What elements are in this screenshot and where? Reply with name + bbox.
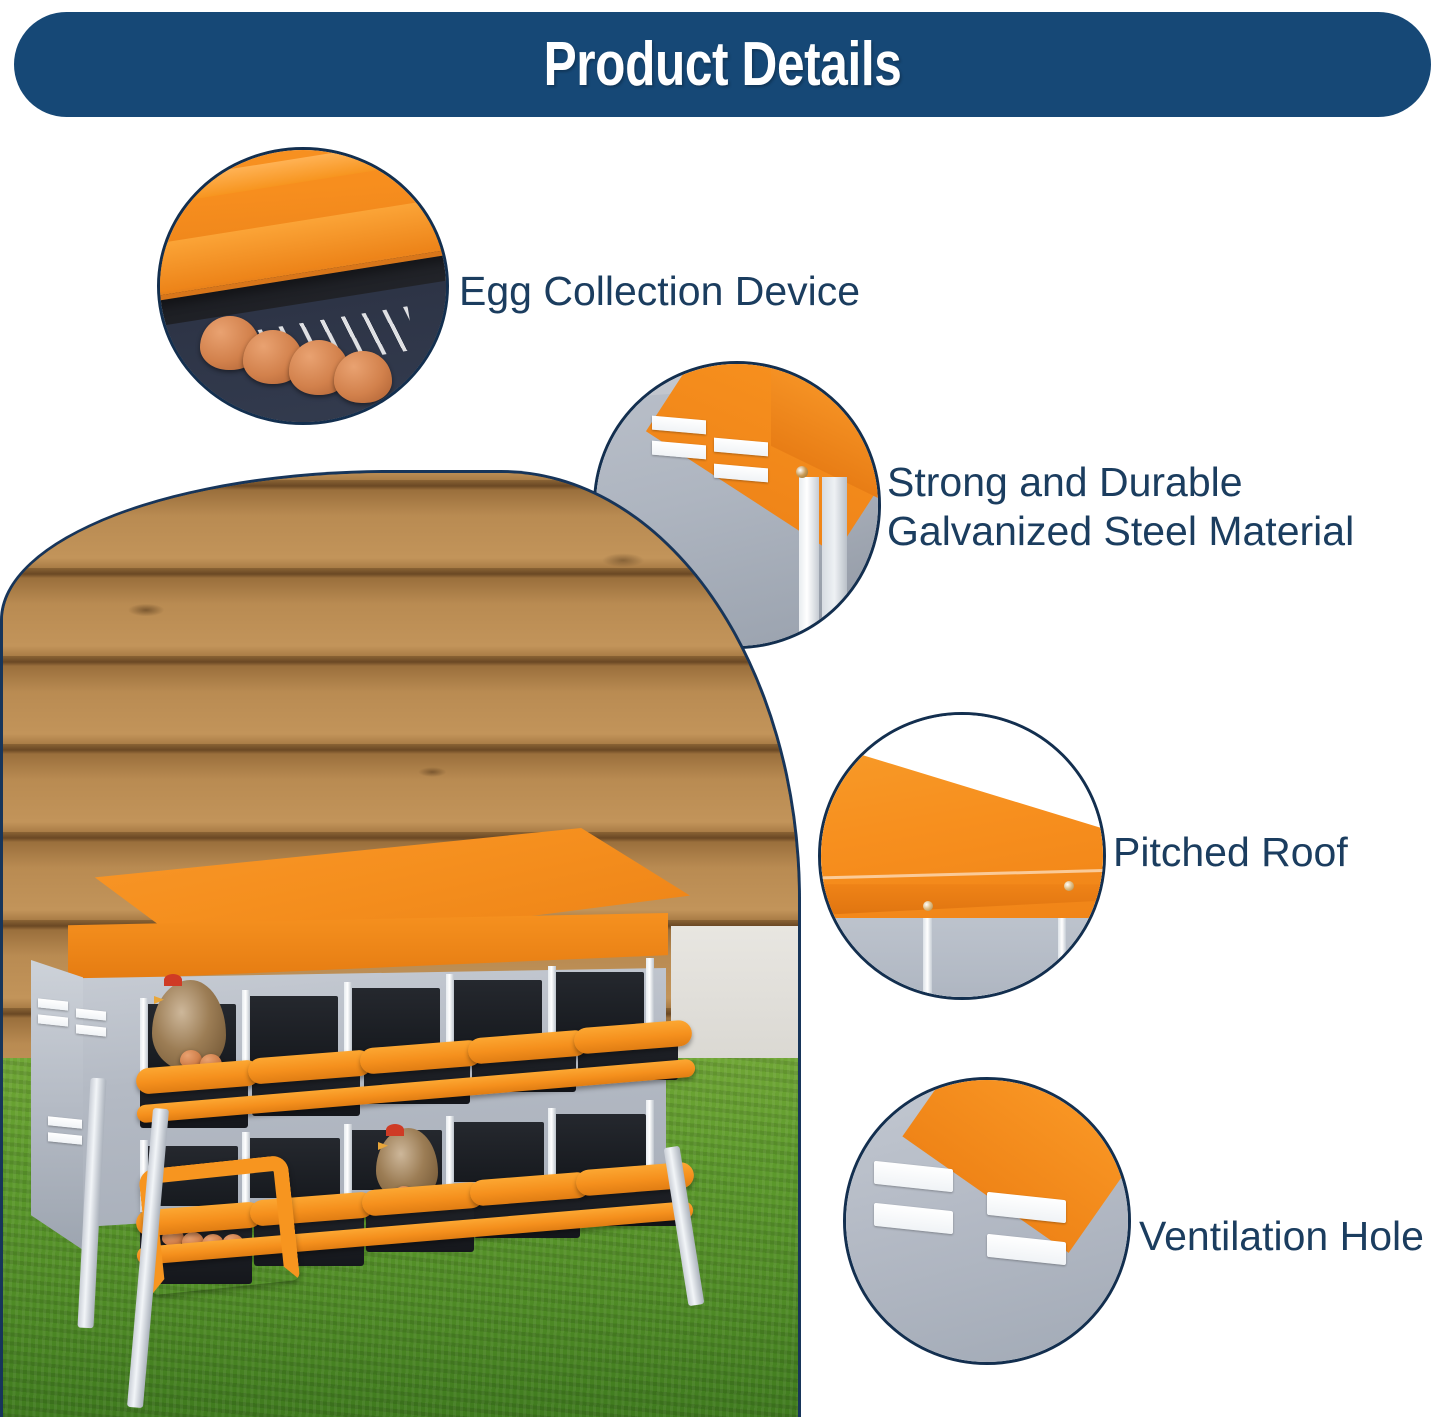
screw-icon <box>923 901 933 911</box>
callout-label-ventilation-hole: Ventilation Hole <box>1139 1212 1439 1261</box>
nest-divider <box>344 982 352 1060</box>
chicken-nesting-box <box>28 828 728 1388</box>
nest-divider <box>446 974 454 1052</box>
callout-label-pitched-roof: Pitched Roof <box>1113 828 1413 877</box>
nest-divider <box>548 1108 556 1180</box>
chicken-comb <box>164 974 182 986</box>
nest-divider <box>646 1100 654 1172</box>
nest-divider <box>140 998 148 1076</box>
callout-label-galvanized-steel: Strong and Durable Galvanized Steel Mate… <box>887 458 1432 556</box>
chicken-comb <box>386 1124 404 1136</box>
corner-post-secondary <box>822 477 847 649</box>
nest-divider <box>344 1124 352 1196</box>
nest-box <box>554 1114 646 1174</box>
screw-icon <box>1064 881 1074 891</box>
callout-label-egg-collection: Egg Collection Device <box>459 267 929 316</box>
nest-box <box>452 1122 544 1182</box>
hero-product-photo <box>0 470 801 1417</box>
nest-divider <box>242 990 250 1068</box>
egg-collection-icon <box>157 147 449 425</box>
ventilation-hole-icon <box>843 1077 1131 1365</box>
nest-divider <box>446 1116 454 1188</box>
header-banner: Product Details <box>14 12 1431 117</box>
screw-icon <box>796 466 808 478</box>
page-title: Product Details <box>156 12 1290 117</box>
egg <box>334 351 391 403</box>
pitched-roof-icon <box>818 712 1106 1000</box>
corner-post <box>799 477 819 649</box>
